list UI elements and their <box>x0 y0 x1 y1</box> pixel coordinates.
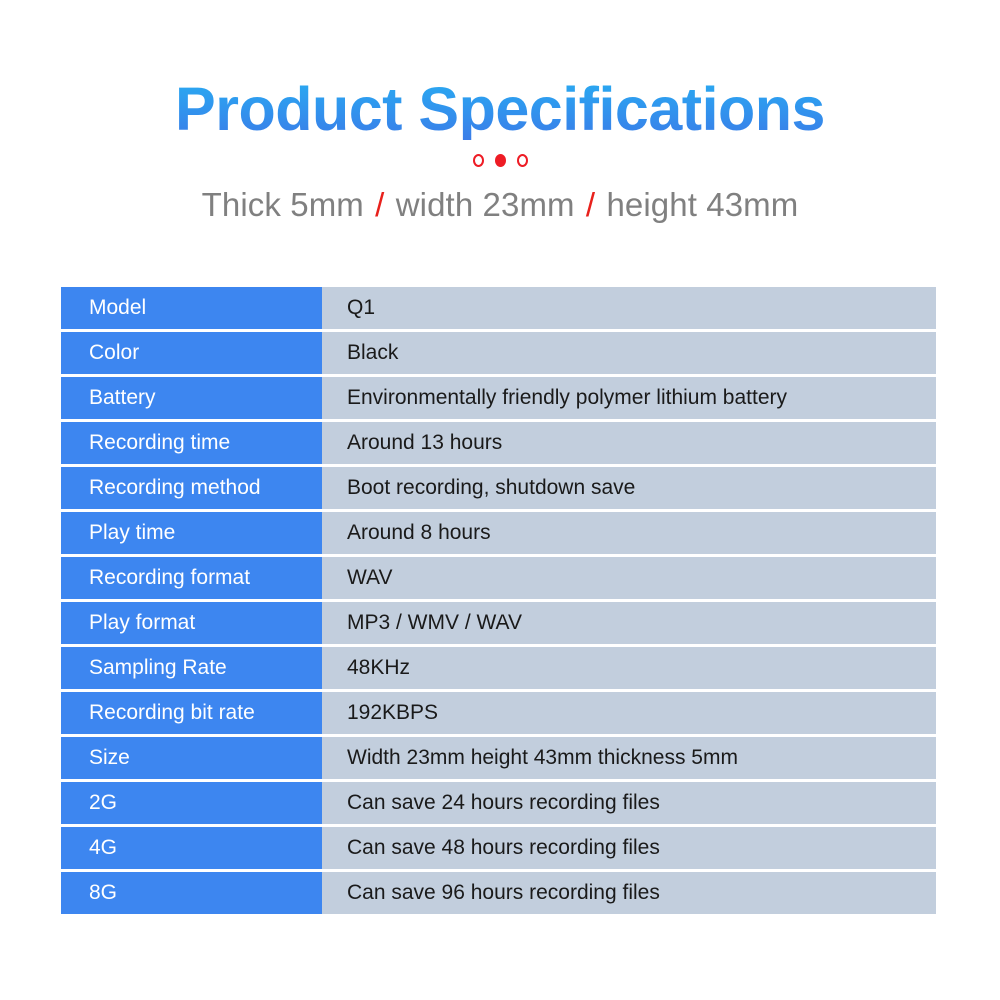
table-row: ModelQ1 <box>61 287 936 329</box>
spec-label-cell: Recording method <box>61 467 322 509</box>
table-row: Recording formatWAV <box>61 557 936 599</box>
spec-label-cell: Play format <box>61 602 322 644</box>
page-title: Product Specifications <box>0 78 1000 140</box>
table-row: Recording methodBoot recording, shutdown… <box>61 467 936 509</box>
spec-value-cell: Environmentally friendly polymer lithium… <box>322 377 936 419</box>
dot-decoration <box>0 152 1000 168</box>
spec-value-cell: MP3 / WMV / WAV <box>322 602 936 644</box>
spec-value-cell: 192KBPS <box>322 692 936 734</box>
table-row: BatteryEnvironmentally friendly polymer … <box>61 377 936 419</box>
table-row: Sampling Rate48KHz <box>61 647 936 689</box>
spec-value-cell: Can save 48 hours recording files <box>322 827 936 869</box>
subtitle-separator-1: / <box>373 186 386 223</box>
spec-label-cell: Model <box>61 287 322 329</box>
dot-filled-center-icon <box>495 154 506 167</box>
subtitle-separator-2: / <box>584 186 597 223</box>
spec-label-cell: Battery <box>61 377 322 419</box>
subtitle-thickness: Thick 5mm <box>202 186 364 223</box>
page-header: Product Specifications Thick 5mm / width… <box>0 0 1000 224</box>
spec-label-cell: 2G <box>61 782 322 824</box>
spec-value-cell: Around 13 hours <box>322 422 936 464</box>
table-row: Play formatMP3 / WMV / WAV <box>61 602 936 644</box>
spec-label-cell: 4G <box>61 827 322 869</box>
spec-label-cell: Recording format <box>61 557 322 599</box>
subtitle-width: width 23mm <box>396 186 575 223</box>
table-row: 4GCan save 48 hours recording files <box>61 827 936 869</box>
table-row: 2GCan save 24 hours recording files <box>61 782 936 824</box>
spec-label-cell: Sampling Rate <box>61 647 322 689</box>
product-specifications-page: Product Specifications Thick 5mm / width… <box>0 0 1000 1000</box>
spec-value-cell: Q1 <box>322 287 936 329</box>
table-row: 8GCan save 96 hours recording files <box>61 872 936 914</box>
spec-label-cell: 8G <box>61 872 322 914</box>
table-row: SizeWidth 23mm height 43mm thickness 5mm <box>61 737 936 779</box>
table-row: Recording timeAround 13 hours <box>61 422 936 464</box>
spec-label-cell: Recording time <box>61 422 322 464</box>
spec-value-cell: Around 8 hours <box>322 512 936 554</box>
spec-value-cell: Width 23mm height 43mm thickness 5mm <box>322 737 936 779</box>
table-row: ColorBlack <box>61 332 936 374</box>
dot-outline-right-icon <box>517 154 528 167</box>
spec-value-cell: Can save 96 hours recording files <box>322 872 936 914</box>
specifications-table: ModelQ1ColorBlackBatteryEnvironmentally … <box>61 287 936 914</box>
spec-label-cell: Recording bit rate <box>61 692 322 734</box>
table-row: Play timeAround 8 hours <box>61 512 936 554</box>
subtitle-height: height 43mm <box>606 186 798 223</box>
spec-label-cell: Color <box>61 332 322 374</box>
spec-value-cell: WAV <box>322 557 936 599</box>
spec-value-cell: Black <box>322 332 936 374</box>
spec-value-cell: 48KHz <box>322 647 936 689</box>
spec-label-cell: Size <box>61 737 322 779</box>
table-row: Recording bit rate192KBPS <box>61 692 936 734</box>
spec-value-cell: Boot recording, shutdown save <box>322 467 936 509</box>
page-subtitle: Thick 5mm / width 23mm / height 43mm <box>0 186 1000 224</box>
spec-value-cell: Can save 24 hours recording files <box>322 782 936 824</box>
spec-label-cell: Play time <box>61 512 322 554</box>
dot-outline-left-icon <box>473 154 484 167</box>
